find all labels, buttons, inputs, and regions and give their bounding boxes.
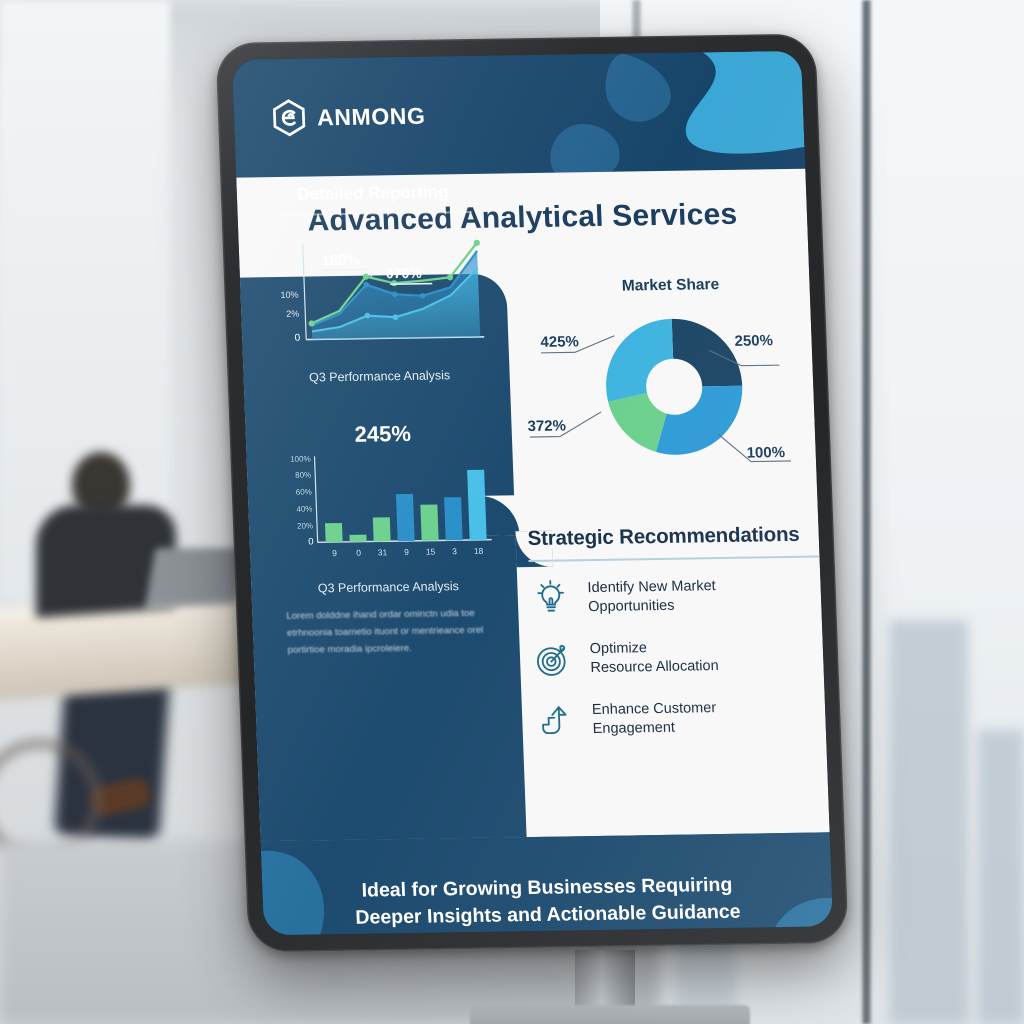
bar	[420, 504, 438, 540]
svg-text:18: 18	[474, 546, 484, 556]
bars	[323, 470, 487, 542]
tablet-stand-base	[470, 1005, 750, 1024]
svg-text:9: 9	[332, 548, 337, 558]
growth-arrow-icon	[534, 699, 578, 742]
tablet-screen[interactable]: ANMONG Advanced Analytical Services Deta…	[232, 51, 833, 935]
line-chart[interactable]: 10% 2% 0	[260, 224, 493, 357]
recommendation-line1: Identify New Market	[587, 578, 716, 596]
recommendation-label: Identify New Market Opportunities	[587, 577, 717, 616]
y-tick-label: 60%	[296, 487, 312, 496]
y-tick-label: 80%	[295, 470, 311, 479]
header-bar: ANMONG	[232, 51, 805, 178]
footer-line2: Deeper Insights and Actionable Guidance	[355, 901, 741, 929]
recommendation-label: Enhance Customer Engagement	[592, 699, 717, 738]
recommendation-line2: Engagement	[592, 719, 675, 736]
footer-line1: Ideal for Growing Businesses Requiring	[361, 874, 732, 902]
bar-headline: 245%	[269, 420, 496, 450]
bar-chart-card: 245% 100% 80% 60% 40% 20% 0	[269, 420, 501, 596]
callout-leader-2	[390, 283, 432, 284]
slice-250	[672, 318, 742, 387]
recommendations-title: Strategic Recommendations	[527, 522, 828, 551]
recommendation-item-1[interactable]: Identify New Market Opportunities	[529, 573, 831, 620]
donut-label-100: 100%	[746, 444, 785, 462]
callout-180: 180%	[321, 251, 360, 269]
svg-text:9: 9	[404, 547, 409, 557]
market-share-section: Market Share 425% 250% 372% 100%	[520, 274, 827, 482]
divider	[528, 555, 824, 561]
donut-chart[interactable]: 425% 250% 372% 100%	[521, 292, 828, 477]
city-building	[890, 620, 968, 1024]
svg-text:3: 3	[452, 546, 457, 556]
city-building	[978, 730, 1024, 1024]
detailed-reporting-card: Detailed Reporting	[259, 182, 494, 385]
recommendation-line2: Opportunities	[588, 597, 675, 614]
donut-label-372: 372%	[527, 417, 566, 435]
svg-text:0: 0	[356, 548, 361, 558]
y-tick-label: 0	[308, 536, 314, 547]
divider	[276, 211, 472, 216]
target-arrow-icon	[531, 638, 575, 681]
recommendation-item-3[interactable]: Enhance Customer Engagement	[534, 695, 834, 742]
svg-text:31: 31	[378, 547, 388, 557]
bar	[444, 497, 463, 540]
y-tick-label: 0	[294, 332, 300, 343]
recommendation-line2: Resource Allocation	[590, 658, 719, 676]
brand-logo[interactable]: ANMONG	[271, 97, 426, 137]
card-blurb-text: Lorem dolddne ihand ordar ominctn udia t…	[286, 606, 494, 660]
y-tick-label: 40%	[296, 504, 312, 513]
svg-text:15: 15	[426, 547, 436, 557]
bar	[373, 517, 391, 541]
bar	[349, 535, 366, 542]
y-tick-label: 10%	[280, 289, 298, 299]
donut-label-425: 425%	[540, 333, 579, 351]
y-tick-label: 100%	[290, 454, 311, 463]
bar	[325, 523, 343, 542]
recommendation-line1: Enhance Customer	[592, 700, 717, 718]
callout-070: 070%	[386, 264, 423, 281]
tablet-device: ANMONG Advanced Analytical Services Deta…	[215, 34, 848, 953]
content-area: Advanced Analytical Services Detailed Re…	[236, 169, 829, 841]
detailed-reporting-title: Detailed Reporting	[259, 182, 488, 206]
brand-name: ANMONG	[317, 102, 426, 131]
slice-425	[604, 319, 675, 402]
footer-text: Ideal for Growing Businesses Requiring D…	[262, 870, 833, 933]
bar	[396, 494, 415, 541]
footer-banner: Ideal for Growing Businesses Requiring D…	[261, 832, 833, 935]
recommendations-section: Strategic Recommendations Identify New M…	[527, 522, 833, 760]
laptop	[145, 548, 246, 610]
hexagon-e-logo-icon	[271, 99, 306, 138]
lightbulb-icon	[529, 577, 573, 620]
window-mullion	[862, 0, 871, 1024]
x-tick-labels: 9 0 31 9 15 3 18	[332, 546, 484, 558]
donut-label-250: 250%	[734, 332, 773, 350]
recommendation-item-2[interactable]: Optimize Resource Allocation	[531, 634, 833, 681]
bar	[467, 470, 487, 540]
bar-chart[interactable]: 100% 80% 60% 40% 20% 0	[270, 448, 500, 569]
recommendation-line1: Optimize	[589, 640, 647, 657]
recommendation-label: Optimize Resource Allocation	[589, 638, 719, 677]
y-tick-label: 2%	[286, 308, 299, 318]
y-tick-label: 20%	[297, 521, 313, 530]
